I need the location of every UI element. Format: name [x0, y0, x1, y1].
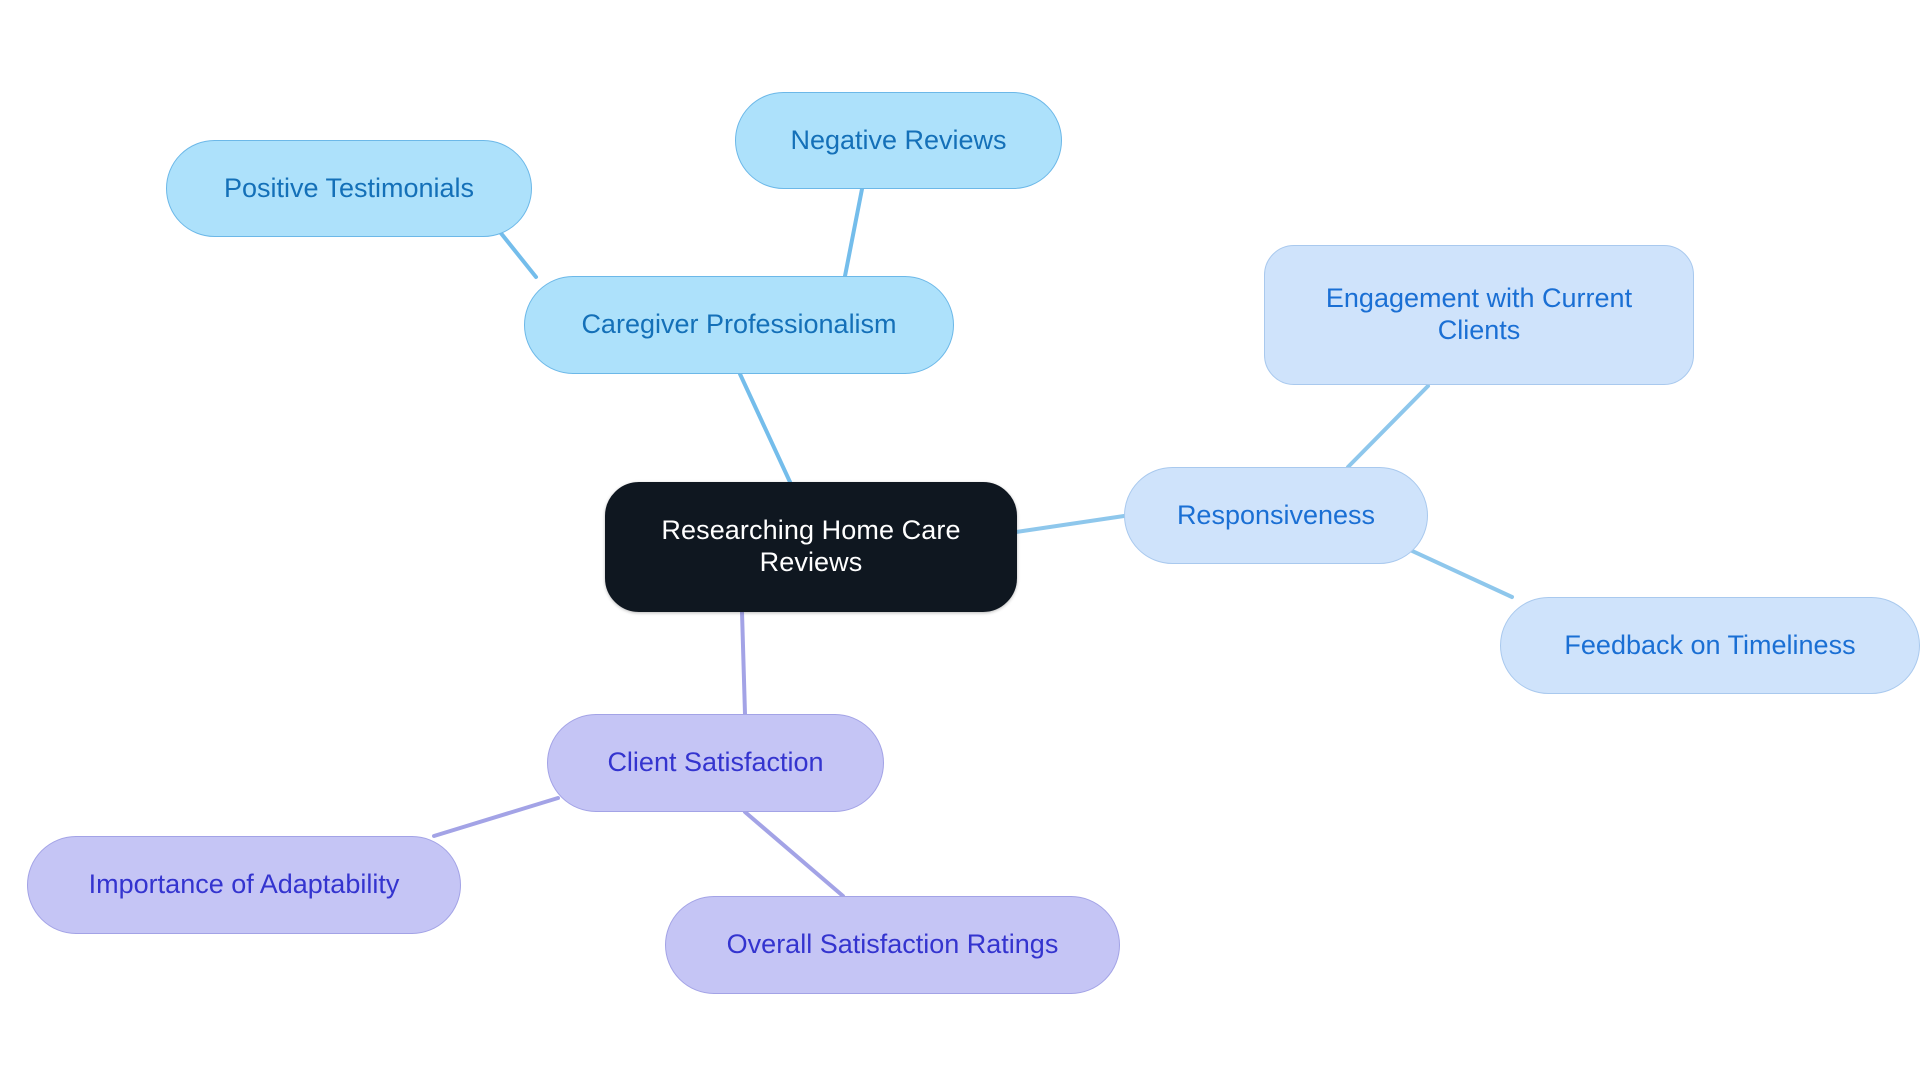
- mindmap-node-positive-testimonials[interactable]: Positive Testimonials: [166, 140, 532, 237]
- mindmap-edge-caregiver-negative: [845, 189, 862, 276]
- mindmap-node-negative-reviews[interactable]: Negative Reviews: [735, 92, 1062, 189]
- mindmap-node-caregiver[interactable]: Caregiver Professionalism: [524, 276, 954, 374]
- mindmap-edge-responsiveness-timeliness: [1395, 543, 1512, 597]
- mindmap-edge-root-caregiver: [740, 374, 790, 482]
- mindmap-edge-root-responsiveness: [1016, 516, 1124, 532]
- mindmap-canvas: Researching Home Care ReviewsCaregiver P…: [0, 0, 1920, 1083]
- mindmap-edge-responsiveness-engagement: [1348, 386, 1428, 467]
- mindmap-node-responsiveness[interactable]: Responsiveness: [1124, 467, 1428, 564]
- mindmap-node-root[interactable]: Researching Home Care Reviews: [605, 482, 1017, 612]
- mindmap-edge-caregiver-positive: [500, 232, 536, 277]
- mindmap-node-timeliness[interactable]: Feedback on Timeliness: [1500, 597, 1920, 694]
- mindmap-edge-client-overall: [745, 812, 843, 896]
- mindmap-node-overall-ratings[interactable]: Overall Satisfaction Ratings: [665, 896, 1120, 994]
- mindmap-edge-client-adaptability: [434, 798, 558, 836]
- mindmap-node-adaptability[interactable]: Importance of Adaptability: [27, 836, 461, 934]
- mindmap-node-client-satisfaction[interactable]: Client Satisfaction: [547, 714, 884, 812]
- mindmap-edge-root-client: [742, 612, 745, 714]
- mindmap-node-engagement[interactable]: Engagement with Current Clients: [1264, 245, 1694, 385]
